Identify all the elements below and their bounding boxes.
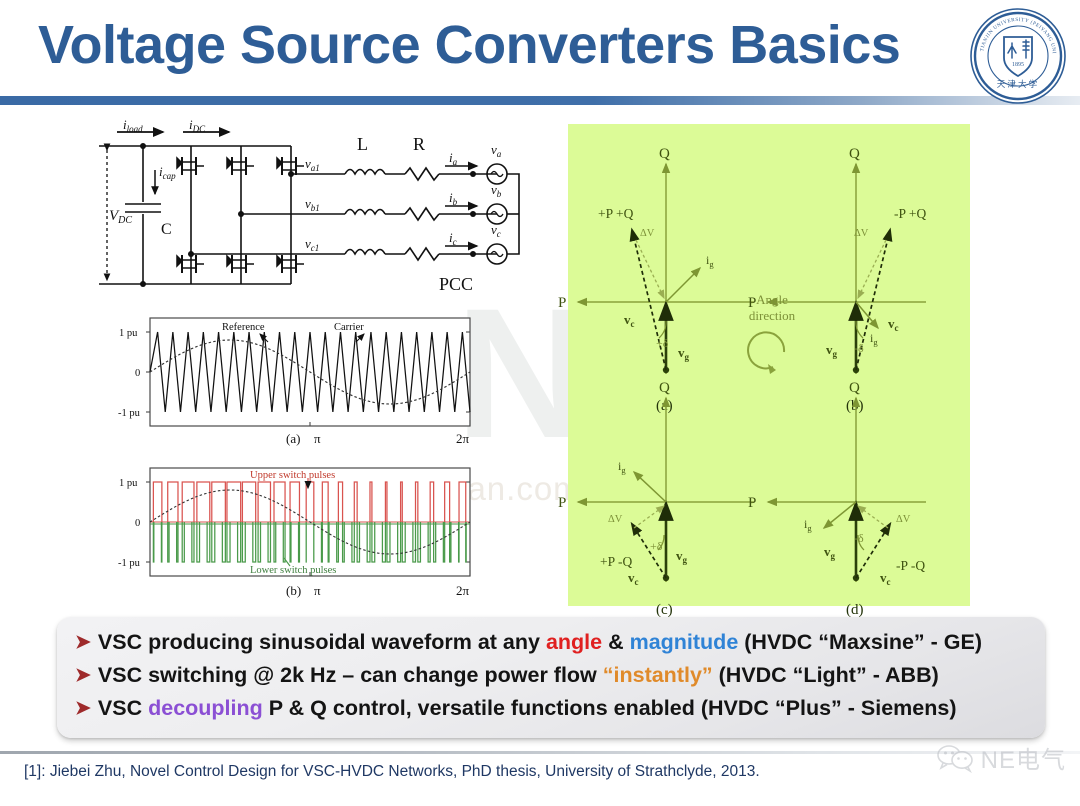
label-va1: va1 xyxy=(305,156,320,173)
key-points-box: ➤ VSC producing sinusoidal waveform at a… xyxy=(57,617,1045,738)
phasor-a-vc: vc xyxy=(624,312,635,329)
label-i-cap: icap xyxy=(159,164,176,181)
logo-year: 1895 xyxy=(1012,62,1024,68)
phasor-d-ig: ig xyxy=(804,517,812,533)
phasor-d: Q P -P -Q ΔV ig vc -δ vg (d) xyxy=(748,380,926,618)
phasor-d-quadrant: -P -Q xyxy=(896,558,925,573)
phasor-d-caption: (d) xyxy=(846,602,864,618)
angle-direction-note: Angle direction xyxy=(748,292,796,374)
phasor-a-ig: ig xyxy=(706,253,714,269)
label-v-dc: VDC xyxy=(109,208,132,226)
wave-a-annot-carrier: Carrier xyxy=(334,322,364,333)
wave-a-caption: (a) xyxy=(286,431,300,446)
logo-chinese-name: 天津大学 xyxy=(997,78,1039,89)
title-divider xyxy=(0,96,1080,105)
bullet-item-1: ➤ VSC producing sinusoidal waveform at a… xyxy=(75,630,1045,663)
label-vc: vc xyxy=(491,222,501,239)
footer-divider xyxy=(0,751,1080,754)
bullet-3-text: VSC decoupling P & Q control, versatile … xyxy=(98,696,957,721)
wave-b-annot-upper: Upper switch pulses xyxy=(250,470,335,481)
chart-pwm-carrier-reference: 1 pu 0 -1 pu Reference Carrier (a) π 2π xyxy=(118,312,478,460)
page-title: Voltage Source Converters Basics xyxy=(38,14,900,76)
chart-pwm-switch-pulses: 1 pu 0 -1 pu Upper switch pulses Lower s… xyxy=(118,462,478,610)
keyword-magnitude: magnitude xyxy=(630,630,739,654)
label-va: va xyxy=(491,142,502,159)
phasor-b-delta: -δ xyxy=(854,341,864,355)
phasor-a-delta-v: ΔV xyxy=(640,228,655,239)
label-pcc: PCC xyxy=(439,274,473,294)
phasor-a-delta: +δ xyxy=(656,336,669,350)
label-i-load: iload xyxy=(123,117,143,134)
label-ib: ib xyxy=(449,190,458,207)
phasor-a-quadrant: +P +Q xyxy=(598,206,634,221)
wave-a-ytick-m1: -1 pu xyxy=(118,408,141,419)
phasor-d-axis-q: Q xyxy=(849,380,860,396)
phasor-a-axis-p: P xyxy=(558,295,566,311)
bullet-1-text: VSC producing sinusoidal waveform at any… xyxy=(98,630,982,655)
wave-b-xtick-2pi: 2π xyxy=(456,583,470,598)
bullet-2-text: VSC switching @ 2k Hz – can change power… xyxy=(98,663,939,688)
phasor-c: Q P +P -Q ΔV ig vc +δ vg (c) xyxy=(558,380,754,618)
keyword-instantly: “instantly” xyxy=(603,663,713,687)
bullet-item-2: ➤ VSC switching @ 2k Hz – can change pow… xyxy=(75,663,1045,696)
label-ic: ic xyxy=(449,230,457,247)
phasor-c-axis-q: Q xyxy=(659,380,670,396)
label-vc1: vc1 xyxy=(305,236,319,253)
phasor-b-quadrant: -P +Q xyxy=(894,206,926,221)
phasor-c-delta: +δ xyxy=(650,539,663,553)
slide-header: Voltage Source Converters Basics xyxy=(0,0,1080,108)
wave-a-ytick-0: 0 xyxy=(135,368,140,379)
wave-b-ytick-1: 1 pu xyxy=(119,478,138,489)
label-resistor: R xyxy=(413,134,425,154)
phasor-c-quadrant: +P -Q xyxy=(600,554,632,569)
angle-note-line2: direction xyxy=(749,308,796,323)
university-logo: TIANJIN UNIVERSITY (PEIYANG UNIVERSITY) … xyxy=(968,6,1068,106)
phasor-c-caption: (c) xyxy=(656,602,673,618)
phasor-c-vc: vc xyxy=(628,570,639,587)
phasor-b-caption: (b) xyxy=(846,398,864,414)
keyword-angle: angle xyxy=(546,630,602,654)
phasor-c-vg: vg xyxy=(676,548,688,565)
wave-b-annot-lower: Lower switch pulses xyxy=(250,565,336,576)
phasor-c-delta-v: ΔV xyxy=(608,514,623,525)
phasor-a: Q P +P +Q ΔV ig vc +δ vg (a) xyxy=(558,146,754,414)
bullet-arrow-icon: ➤ xyxy=(75,666,91,685)
phasor-d-axis-p: P xyxy=(748,495,756,511)
phasor-c-axis-p: P xyxy=(558,495,566,511)
label-capacitor: C xyxy=(161,221,172,238)
wave-b-ytick-0: 0 xyxy=(135,518,140,529)
label-i-dc: iDC xyxy=(189,117,206,134)
bullet-arrow-icon: ➤ xyxy=(75,699,91,718)
phasor-a-vg: vg xyxy=(678,345,690,362)
phasor-d-vg: vg xyxy=(824,544,836,561)
phasor-a-caption: (a) xyxy=(656,398,673,414)
label-vb: vb xyxy=(491,182,502,199)
phasor-b-vc: vc xyxy=(888,316,899,333)
phasor-b: Q P -P +Q ΔV ig vc -δ vg (b) xyxy=(748,146,926,414)
wechat-badge-label: NE电气 xyxy=(981,740,1066,775)
label-ia: ia xyxy=(449,150,458,167)
angle-note-line1: Angle xyxy=(756,292,788,307)
reference-citation: [1]: Jiebei Zhu, Novel Control Design fo… xyxy=(24,763,760,781)
keyword-decoupling: decoupling xyxy=(148,696,263,720)
phasor-b-delta-v: ΔV xyxy=(854,228,869,239)
circular-arrow-icon xyxy=(748,332,784,374)
phasor-d-vc: vc xyxy=(880,570,891,587)
wave-b-xtick-pi: π xyxy=(314,583,321,598)
phasor-b-axis-q: Q xyxy=(849,146,860,162)
wave-b-caption: (b) xyxy=(286,583,301,598)
phasor-d-delta-v: ΔV xyxy=(896,514,911,525)
bullet-arrow-icon: ➤ xyxy=(75,633,91,652)
phasor-a-axis-q: Q xyxy=(659,146,670,162)
phasor-c-ig: ig xyxy=(618,459,626,475)
label-inductor: L xyxy=(357,134,368,154)
wechat-icon xyxy=(936,745,976,771)
label-vb1: vb1 xyxy=(305,196,320,213)
wave-a-ytick-1: 1 pu xyxy=(119,328,138,339)
wechat-watermark-badge: NE电气 xyxy=(936,740,1066,775)
vsc-circuit-diagram: iload iDC icap VDC C va1 vb1 vc1 L R ia … xyxy=(95,118,525,303)
phasor-b-ig: ig xyxy=(870,331,878,347)
phasor-b-vg: vg xyxy=(826,342,838,359)
wave-a-xtick-pi: π xyxy=(314,431,321,446)
wave-a-annot-reference: Reference xyxy=(222,322,265,333)
bullet-item-3: ➤ VSC decoupling P & Q control, versatil… xyxy=(75,696,1045,729)
phasor-d-delta: -δ xyxy=(854,531,864,545)
wave-a-xtick-2pi: 2π xyxy=(456,431,470,446)
wave-b-ytick-m1: -1 pu xyxy=(118,558,141,569)
phasor-diagram-panel: Q P +P +Q ΔV ig vc +δ vg (a) xyxy=(568,124,970,606)
slide-canvas: NE www.niudunyan.com Voltage Source Conv… xyxy=(0,0,1080,806)
